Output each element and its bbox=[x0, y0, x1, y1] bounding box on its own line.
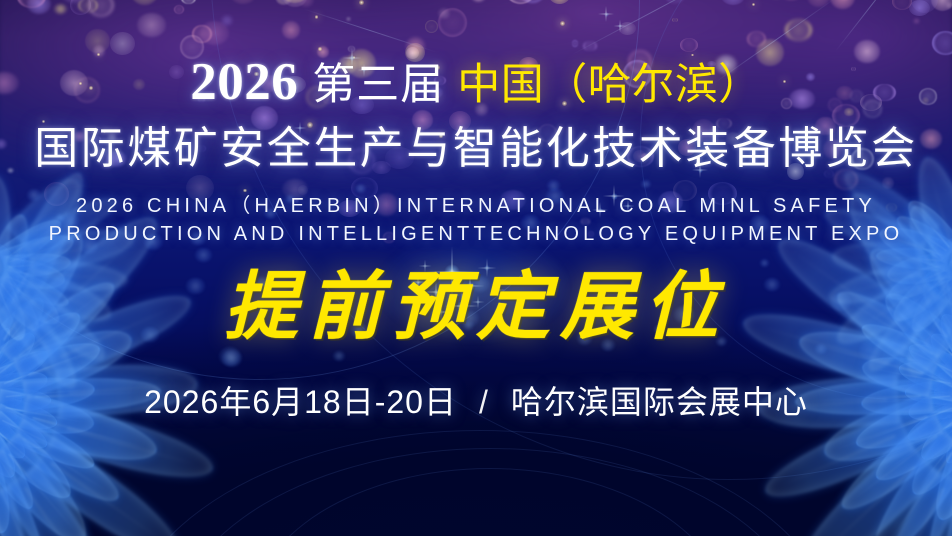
title-edition: 第三届 bbox=[312, 64, 444, 107]
title-year: 2026 bbox=[190, 56, 298, 109]
title-line-1: 2026 第三届 中国（哈尔滨） bbox=[190, 56, 762, 109]
subtitle-en-line-1: 2026 CHINA（HAERBIN）INTERNATIONAL COAL MI… bbox=[76, 189, 876, 218]
subtitle-en-line-2: PRODUCTION AND INTELLIGENTTECHNOLOGY EQU… bbox=[49, 223, 904, 246]
footer-info: 2026年6月18日-20日 / 哈尔滨国际会展中心 bbox=[144, 386, 808, 418]
poster-content: 2026 第三届 中国（哈尔滨） 国际煤矿安全生产与智能化技术装备博览会 202… bbox=[0, 0, 952, 536]
title-location-highlight: 中国（哈尔滨） bbox=[457, 64, 762, 107]
headline-call-to-action: 提前预定展位 bbox=[224, 270, 728, 344]
footer-separator: / bbox=[479, 386, 489, 418]
event-date: 2026年6月18日-20日 bbox=[144, 386, 457, 418]
title-main: 国际煤矿安全生产与智能化技术装备博览会 bbox=[34, 127, 918, 171]
poster-canvas: 2026 第三届 中国（哈尔滨） 国际煤矿安全生产与智能化技术装备博览会 202… bbox=[0, 0, 952, 536]
event-venue: 哈尔滨国际会展中心 bbox=[511, 386, 808, 418]
